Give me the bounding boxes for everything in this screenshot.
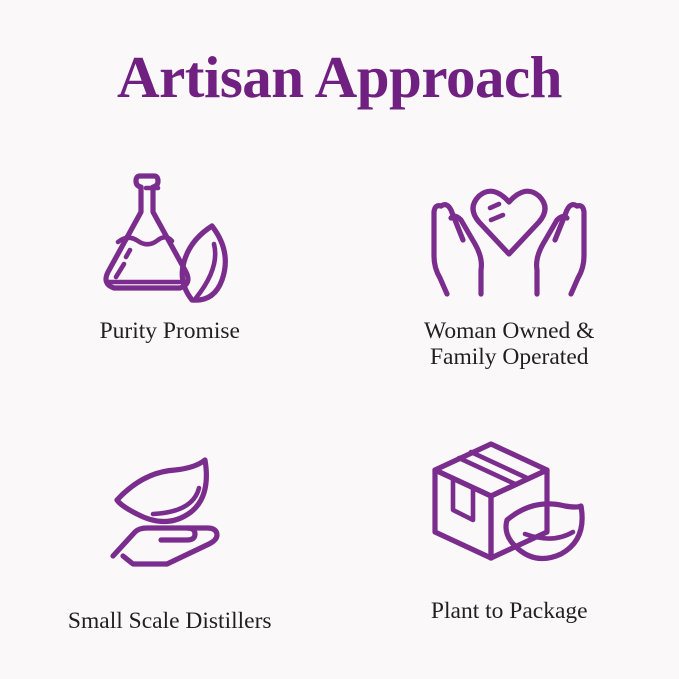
feature-card-small-scale-distillers: Small Scale Distillers <box>0 400 340 650</box>
feature-grid: Purity Promise <box>0 150 679 650</box>
artisan-approach-panel: Artisan Approach <box>0 0 679 679</box>
feature-card-plant-to-package: Plant to Package <box>340 400 679 650</box>
hand-leaf-icon <box>82 442 257 582</box>
page-title-container: Artisan Approach <box>0 46 679 108</box>
flask-leaf-icon <box>82 164 257 304</box>
box-leaf-icon <box>422 432 597 572</box>
feature-card-purity-promise: Purity Promise <box>0 150 340 400</box>
feature-caption: Purity Promise <box>100 318 240 344</box>
feature-caption: Small Scale Distillers <box>68 608 272 634</box>
hands-heart-icon <box>422 164 597 304</box>
feature-card-woman-owned: Woman Owned & Family Operated <box>340 150 679 400</box>
page-title: Artisan Approach <box>0 46 679 108</box>
feature-caption: Plant to Package <box>431 598 588 624</box>
feature-caption: Woman Owned & Family Operated <box>424 318 594 370</box>
